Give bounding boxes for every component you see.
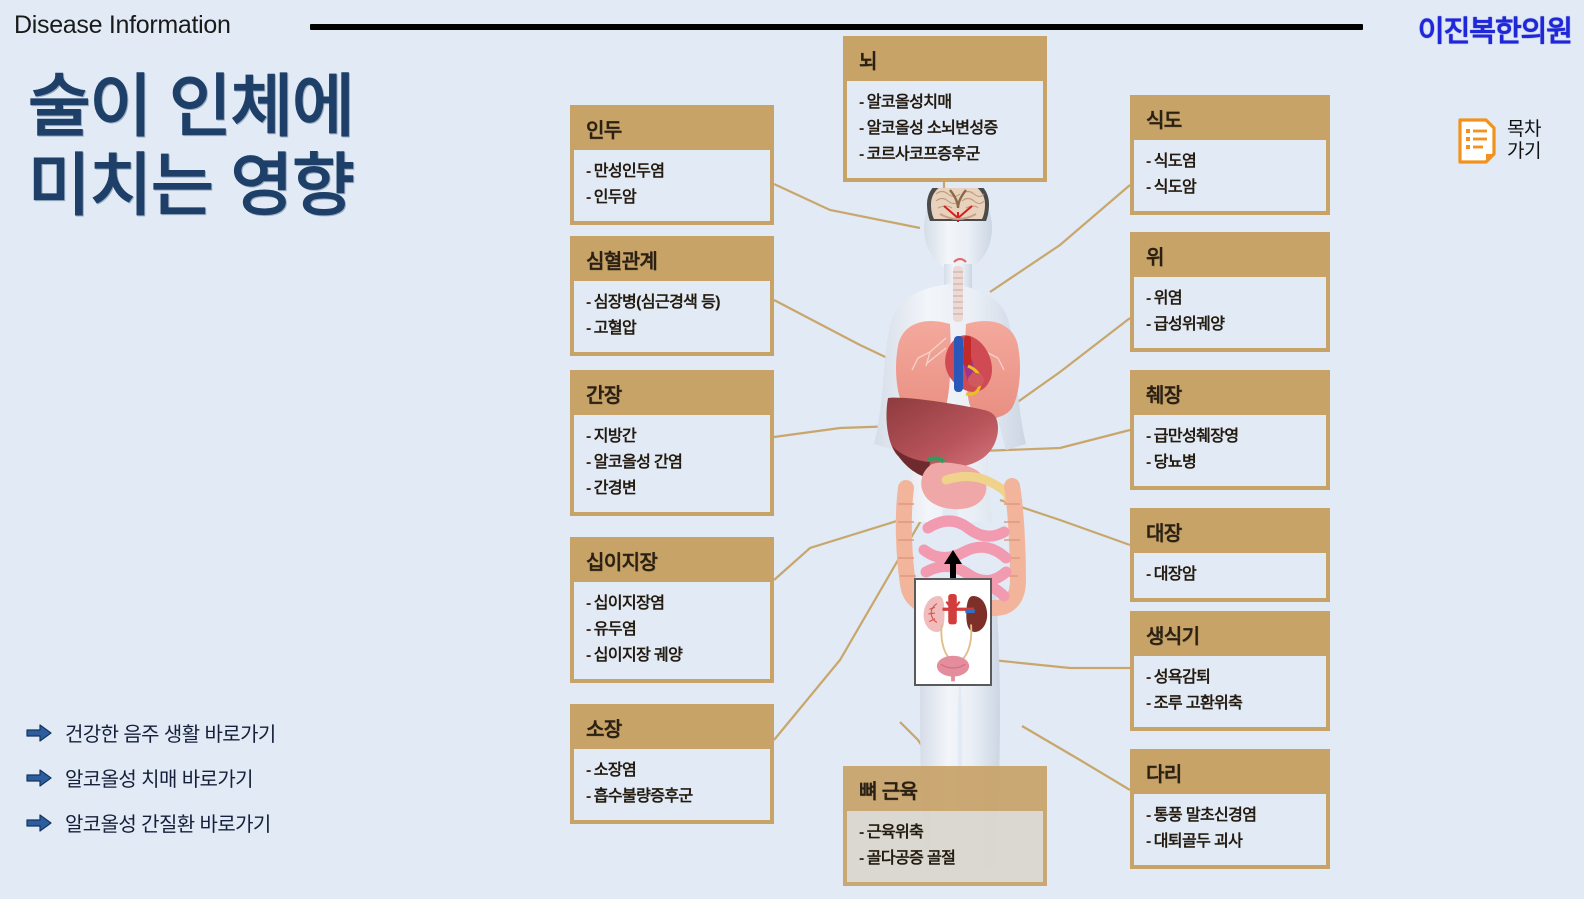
bullet-dash-icon: -: [1146, 669, 1151, 686]
disease-item-label: 유두염: [594, 621, 636, 638]
bullet-dash-icon: -: [586, 320, 591, 337]
header-divider-rule: [310, 24, 1363, 30]
disease-box-title-cardiovascular: 심혈관계: [574, 240, 770, 281]
disease-item: -십이지장염: [586, 591, 758, 617]
disease-list-pancreas: -급만성췌장영-당뇨병: [1134, 415, 1326, 486]
disease-item: -심장병(심근경색 등): [586, 290, 758, 316]
disease-item-label: 조루 고환위축: [1154, 695, 1243, 712]
disease-item: -만성인두염: [586, 159, 758, 185]
disease-item: -간경변: [586, 476, 758, 502]
disease-item-label: 성욕감퇴: [1154, 669, 1210, 686]
page-title: 술이 인체에 미치는 영향: [28, 68, 354, 226]
disease-item-label: 위염: [1154, 290, 1182, 307]
disease-box-title-esophagus: 식도: [1134, 99, 1326, 140]
disease-item: -알코올성치매: [859, 90, 1031, 116]
bullet-dash-icon: -: [1146, 179, 1151, 196]
disease-item: -근육위축: [859, 820, 1031, 846]
quick-link-2[interactable]: 알코올성 치매 바로가기: [26, 763, 276, 792]
bullet-dash-icon: -: [586, 595, 591, 612]
disease-box-title-brain: 뇌: [847, 40, 1043, 81]
right-arrow-icon: [26, 724, 52, 742]
page-title-line-1: 술이 인체에: [28, 68, 354, 147]
bullet-dash-icon: -: [586, 163, 591, 180]
disease-item-label: 알코올성치매: [867, 94, 952, 111]
bullet-dash-icon: -: [1146, 833, 1151, 850]
disease-item: -식도암: [1146, 175, 1314, 201]
quick-link-3[interactable]: 알코올성 간질환 바로가기: [26, 808, 276, 837]
disease-item-label: 식도암: [1154, 179, 1196, 196]
disease-item: -위염: [1146, 286, 1314, 312]
disease-box-title-stomach: 위: [1134, 236, 1326, 277]
disease-box-reproductive[interactable]: 생식기-성욕감퇴-조루 고환위축: [1130, 611, 1330, 731]
disease-box-title-bone-muscle: 뼈 근육: [847, 770, 1043, 811]
disease-item: -십이지장 궤양: [586, 643, 758, 669]
disease-box-title-large-intestine: 대장: [1134, 512, 1326, 553]
disease-list-liver: -지방간-알코올성 간염-간경변: [574, 415, 770, 512]
bullet-dash-icon: -: [859, 824, 864, 841]
disease-item-label: 십이지장 궤양: [594, 647, 683, 664]
bullet-dash-icon: -: [586, 647, 591, 664]
quick-link-1[interactable]: 건강한 음주 생활 바로가기: [26, 718, 276, 747]
disease-item-label: 코르사코프증후군: [867, 146, 980, 163]
disease-list-large-intestine: -대장암: [1134, 553, 1326, 598]
disease-item-label: 식도염: [1154, 153, 1196, 170]
disease-box-bone-muscle[interactable]: 뼈 근육-근육위축-골다공증 골절: [843, 766, 1047, 886]
disease-item: -급성위궤양: [1146, 312, 1314, 338]
bullet-dash-icon: -: [1146, 428, 1151, 445]
section-eyebrow-label: Disease Information: [14, 11, 231, 40]
toc-label-line-1: 목차: [1507, 119, 1541, 141]
bullet-dash-icon: -: [586, 294, 591, 311]
clinic-brand-name: 이진복한의원: [1418, 8, 1572, 50]
disease-box-pancreas[interactable]: 췌장-급만성췌장영-당뇨병: [1130, 370, 1330, 490]
disease-item: -통풍 말초신경염: [1146, 803, 1314, 829]
disease-item: -골다공증 골절: [859, 846, 1031, 872]
disease-item: -소장염: [586, 758, 758, 784]
disease-item-label: 흡수불량증후군: [594, 788, 693, 805]
disease-list-pharynx: -만성인두염-인두암: [574, 150, 770, 221]
disease-item-label: 알코올성 간염: [594, 454, 683, 471]
bullet-dash-icon: -: [1146, 566, 1151, 583]
disease-box-title-duodenum: 십이지장: [574, 541, 770, 582]
quick-link-label: 건강한 음주 생활 바로가기: [65, 718, 276, 747]
disease-item: -대장암: [1146, 562, 1314, 588]
disease-item-label: 인두암: [594, 189, 636, 206]
disease-item: -고혈압: [586, 316, 758, 342]
toc-label-line-2: 가기: [1507, 141, 1541, 163]
disease-item: -대퇴골두 괴사: [1146, 829, 1314, 855]
disease-list-brain: -알코올성치매-알코올성 소뇌변성증-코르사코프증후군: [847, 81, 1043, 178]
bullet-dash-icon: -: [859, 120, 864, 137]
disease-list-reproductive: -성욕감퇴-조루 고환위축: [1134, 656, 1326, 727]
disease-item-label: 대장암: [1154, 566, 1196, 583]
disease-list-duodenum: -십이지장염-유두염-십이지장 궤양: [574, 582, 770, 679]
disease-item-label: 지방간: [594, 428, 636, 445]
disease-box-brain[interactable]: 뇌-알코올성치매-알코올성 소뇌변성증-코르사코프증후군: [843, 36, 1047, 182]
disease-item-label: 간경변: [594, 480, 636, 497]
bullet-dash-icon: -: [859, 850, 864, 867]
bullet-dash-icon: -: [1146, 695, 1151, 712]
disease-box-title-leg: 다리: [1134, 753, 1326, 794]
bullet-dash-icon: -: [586, 428, 591, 445]
disease-item-label: 대퇴골두 괴사: [1154, 833, 1243, 850]
disease-item-label: 십이지장염: [594, 595, 665, 612]
kidney-urinary-system-inset: [914, 578, 992, 686]
disease-box-leg[interactable]: 다리-통풍 말초신경염-대퇴골두 괴사: [1130, 749, 1330, 869]
disease-item-label: 골다공증 골절: [867, 850, 956, 867]
quick-link-label: 알코올성 간질환 바로가기: [65, 808, 271, 837]
disease-item-label: 심장병(심근경색 등): [594, 294, 720, 311]
bullet-dash-icon: -: [1146, 316, 1151, 333]
disease-item-label: 고혈압: [594, 320, 636, 337]
disease-item-label: 소장염: [594, 762, 636, 779]
disease-box-title-reproductive: 생식기: [1134, 615, 1326, 656]
disease-item-label: 통풍 말초신경염: [1154, 807, 1257, 824]
disease-box-liver[interactable]: 간장-지방간-알코올성 간염-간경변: [570, 370, 774, 516]
disease-list-esophagus: -식도염-식도암: [1134, 140, 1326, 211]
disease-item: -지방간: [586, 424, 758, 450]
bullet-dash-icon: -: [586, 480, 591, 497]
disease-item: -급만성췌장영: [1146, 424, 1314, 450]
disease-item-label: 만성인두염: [594, 163, 665, 180]
disease-box-title-pancreas: 췌장: [1134, 374, 1326, 415]
up-arrow-pointer: [940, 548, 966, 582]
bullet-dash-icon: -: [586, 621, 591, 638]
bullet-dash-icon: -: [1146, 454, 1151, 471]
disease-item: -성욕감퇴: [1146, 665, 1314, 691]
disease-box-title-liver: 간장: [574, 374, 770, 415]
quick-link-label: 알코올성 치매 바로가기: [65, 763, 253, 792]
disease-item-label: 급만성췌장영: [1154, 428, 1239, 445]
quick-link-list: 건강한 음주 생활 바로가기알코올성 치매 바로가기알코올성 간질환 바로가기: [26, 718, 276, 853]
disease-item: -코르사코프증후군: [859, 142, 1031, 168]
disease-list-cardiovascular: -심장병(심근경색 등)-고혈압: [574, 281, 770, 352]
disease-list-bone-muscle: -근육위축-골다공증 골절: [847, 811, 1043, 882]
disease-list-leg: -통풍 말초신경염-대퇴골두 괴사: [1134, 794, 1326, 865]
bullet-dash-icon: -: [1146, 153, 1151, 170]
right-arrow-icon: [26, 769, 52, 787]
disease-item: -알코올성 간염: [586, 450, 758, 476]
bullet-dash-icon: -: [586, 454, 591, 471]
right-arrow-icon: [26, 814, 52, 832]
disease-item: -알코올성 소뇌변성증: [859, 116, 1031, 142]
bullet-dash-icon: -: [1146, 807, 1151, 824]
disease-item-label: 알코올성 소뇌변성증: [867, 120, 998, 137]
disease-box-stomach[interactable]: 위-위염-급성위궤양: [1130, 232, 1330, 352]
bullet-dash-icon: -: [859, 94, 864, 111]
disease-item: -흡수불량증후군: [586, 784, 758, 810]
bullet-dash-icon: -: [586, 762, 591, 779]
disease-item: -유두염: [586, 617, 758, 643]
disease-box-title-small-intestine: 소장: [574, 708, 770, 749]
bullet-dash-icon: -: [586, 788, 591, 805]
document-list-icon: [1456, 117, 1498, 165]
bullet-dash-icon: -: [859, 146, 864, 163]
disease-list-stomach: -위염-급성위궤양: [1134, 277, 1326, 348]
disease-box-esophagus[interactable]: 식도-식도염-식도암: [1130, 95, 1330, 215]
bullet-dash-icon: -: [586, 189, 591, 206]
disease-item-label: 근육위축: [867, 824, 923, 841]
page-title-line-2: 미치는 영향: [28, 147, 354, 226]
disease-box-cardiovascular[interactable]: 심혈관계-심장병(심근경색 등)-고혈압: [570, 236, 774, 356]
infographic-canvas: Disease Information 이진복한의원 술이 인체에 미치는 영향…: [0, 0, 1584, 899]
disease-box-small-intestine[interactable]: 소장-소장염-흡수불량증후군: [570, 704, 774, 824]
disease-box-pharynx[interactable]: 인두-만성인두염-인두암: [570, 105, 774, 225]
disease-list-small-intestine: -소장염-흡수불량증후군: [574, 749, 770, 820]
bullet-dash-icon: -: [1146, 290, 1151, 307]
disease-item: -식도염: [1146, 149, 1314, 175]
disease-box-large-intestine[interactable]: 대장-대장암: [1130, 508, 1330, 602]
disease-item-label: 당뇨병: [1154, 454, 1196, 471]
toc-button-label: 목차 가기: [1507, 119, 1541, 164]
disease-box-duodenum[interactable]: 십이지장-십이지장염-유두염-십이지장 궤양: [570, 537, 774, 683]
disease-item: -조루 고환위축: [1146, 691, 1314, 717]
toc-button[interactable]: 목차 가기: [1456, 117, 1541, 165]
disease-box-title-pharynx: 인두: [574, 109, 770, 150]
disease-item: -인두암: [586, 185, 758, 211]
disease-item-label: 급성위궤양: [1154, 316, 1225, 333]
disease-item: -당뇨병: [1146, 450, 1314, 476]
